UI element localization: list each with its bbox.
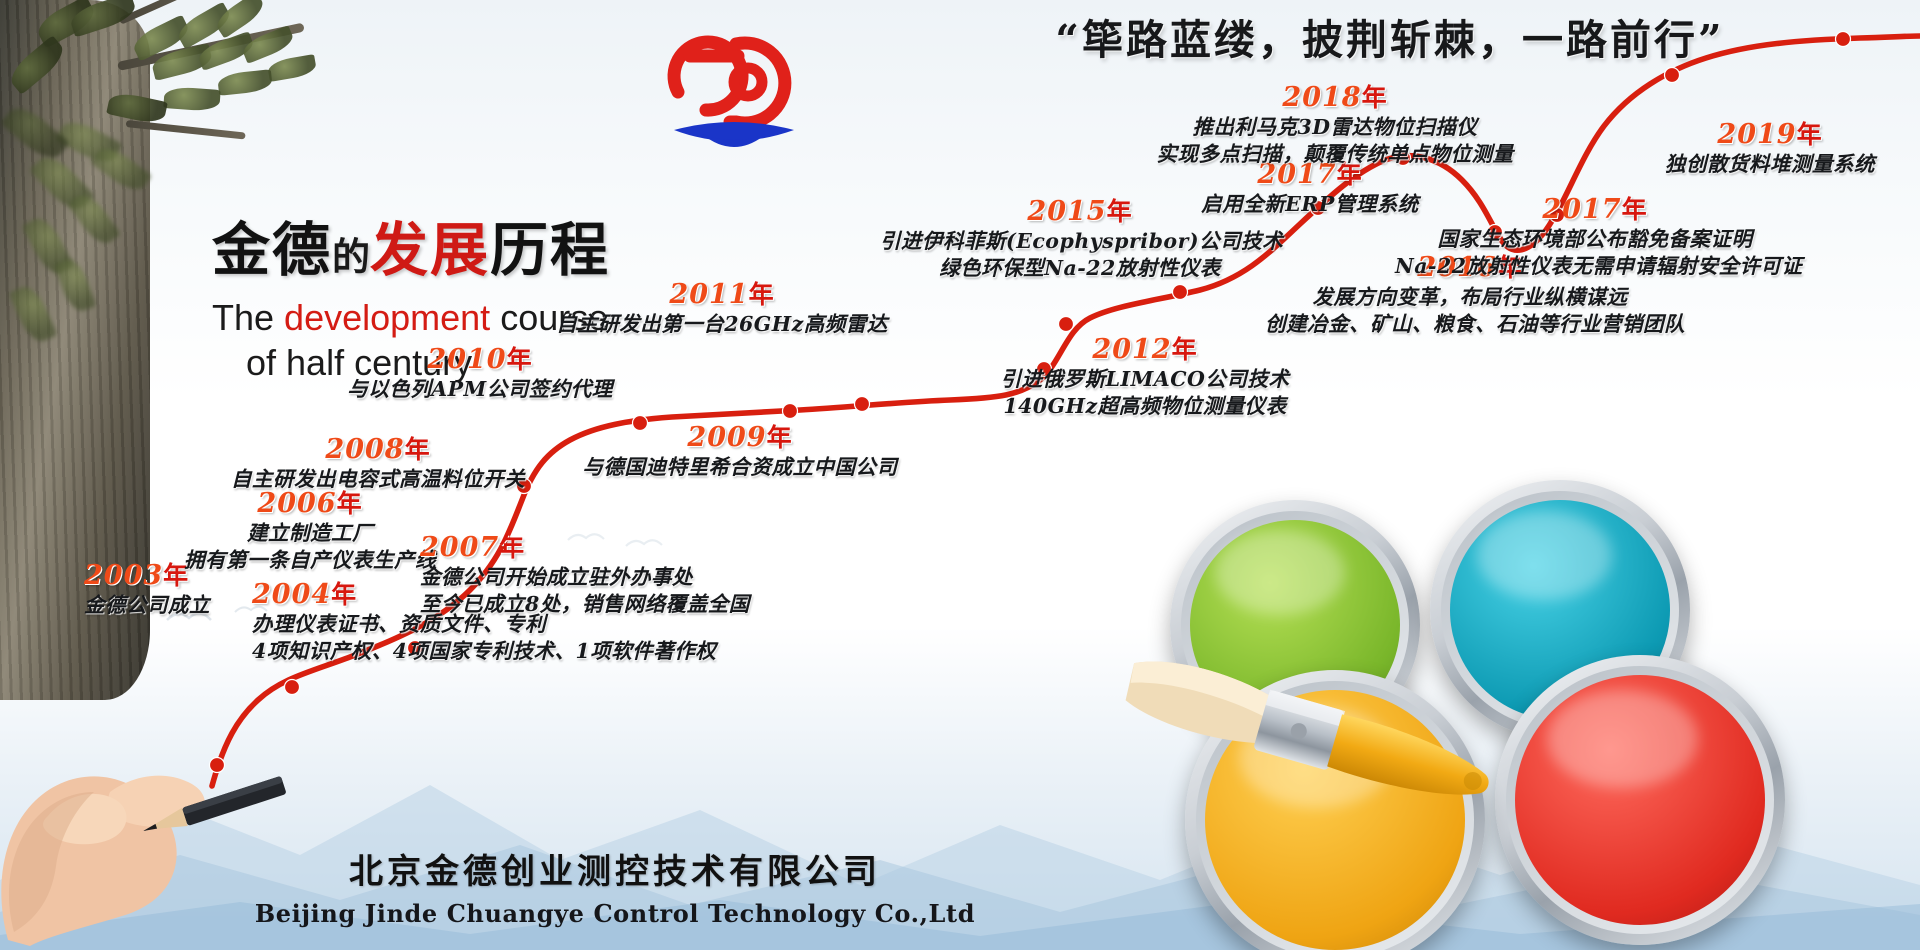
paint-can-red bbox=[1495, 655, 1785, 945]
company-name-cn: 北京金德创业测控技术有限公司 bbox=[0, 844, 1230, 893]
milestone-detail: 引进俄罗斯LIMACO公司技术140GHz超高频物位测量仪表 bbox=[1001, 367, 1290, 418]
milestone-2012: 2012年 引进俄罗斯LIMACO公司技术140GHz超高频物位测量仪表 bbox=[995, 330, 1295, 420]
milestone-detail: 推出利马克3D雷达物位扫描仪实现多点扫描，颠覆传统单点物位测量 bbox=[1157, 115, 1514, 166]
jinde-50-logo bbox=[640, 18, 830, 158]
company-footer: 北京金德创业测控技术有限公司 Beijing Jinde Chuangye Co… bbox=[0, 844, 1230, 928]
title-cn-de: 的 bbox=[332, 234, 370, 279]
milestone-detail: 引进伊科菲斯(Ecophyspribor)公司技术绿色环保型Na-22放射性仪表 bbox=[880, 229, 1283, 280]
milestone-year: 2012年 bbox=[995, 330, 1295, 366]
title-cn-brand: 金德 bbox=[212, 216, 332, 284]
milestone-year: 2018年 bbox=[1070, 78, 1600, 114]
milestone-detail: 金德公司成立 bbox=[84, 593, 210, 617]
milestone-year: 2010年 bbox=[290, 340, 670, 376]
milestone-detail: 自主研发出第一台26GHz高频雷达 bbox=[556, 312, 888, 336]
title-en-development: development bbox=[284, 297, 490, 338]
milestone-year: 2011年 bbox=[512, 275, 932, 311]
paint-brush bbox=[1090, 650, 1510, 840]
milestone-2011: 2011年 自主研发出第一台26GHz高频雷达 bbox=[512, 275, 932, 338]
milestone-detail: 国家生态环境部公布豁免备案证明Na-22放射性仪表无需申请辐射安全许可证 bbox=[1395, 227, 1803, 278]
milestone-year: 2007年 bbox=[420, 528, 750, 564]
milestone-year: 2019年 bbox=[1610, 115, 1920, 151]
milestone-detail: 与德国迪特里希合资成立中国公司 bbox=[583, 455, 898, 479]
milestone-detail: 独创散货料堆测量系统 bbox=[1665, 152, 1875, 176]
title-cn-development: 发展 bbox=[370, 216, 490, 284]
milestone-detail: 建立制造工厂拥有第一条自产仪表生产线 bbox=[184, 521, 436, 572]
title-chinese: 金德的发展历程 bbox=[212, 220, 682, 281]
milestone-year: 2009年 bbox=[525, 418, 955, 454]
milestone-detail: 办理仪表证书、资质文件、专利4项知识产权、4项国家专利技术、1项软件著作权 bbox=[252, 612, 716, 663]
milestone-year: 2017年 bbox=[1395, 190, 1795, 226]
header-slogan: “筚路蓝缕，披荆斩棘，一路前行” bbox=[975, 6, 1805, 66]
milestone-detail: 金德公司开始成立驻外办事处至今已成立8处，销售网络覆盖全国 bbox=[420, 565, 750, 616]
poster-canvas: “筚路蓝缕，披荆斩棘，一路前行” 金德的发展历程 The development… bbox=[0, 0, 1920, 950]
milestone-detail: 与以色列APM公司签约代理 bbox=[347, 377, 613, 401]
milestone-2019: 2019年 独创散货料堆测量系统 bbox=[1610, 115, 1920, 178]
milestone-2009: 2009年 与德国迪特里希合资成立中国公司 bbox=[525, 418, 955, 481]
milestone-2017-exemption: 2017年 国家生态环境部公布豁免备案证明Na-22放射性仪表无需申请辐射安全许… bbox=[1395, 190, 1795, 280]
milestone-detail: 自主研发出电容式高温料位开关 bbox=[231, 467, 525, 491]
title-cn-course: 历程 bbox=[490, 216, 610, 284]
milestone-2010: 2010年 与以色列APM公司签约代理 bbox=[290, 340, 670, 403]
title-en-the: The bbox=[212, 297, 284, 338]
company-name-en: Beijing Jinde Chuangye Control Technolog… bbox=[0, 899, 1230, 928]
milestone-2018: 2018年 推出利马克3D雷达物位扫描仪实现多点扫描，颠覆传统单点物位测量 bbox=[1070, 78, 1600, 168]
milestone-2007: 2007年 金德公司开始成立驻外办事处至今已成立8处，销售网络覆盖全国 bbox=[420, 528, 750, 618]
milestone-detail: 发展方向变革，布局行业纵横谋远创建冶金、矿山、粮食、石油等行业营销团队 bbox=[1265, 285, 1685, 336]
milestone-detail: 启用全新ERP管理系统 bbox=[1201, 192, 1419, 216]
